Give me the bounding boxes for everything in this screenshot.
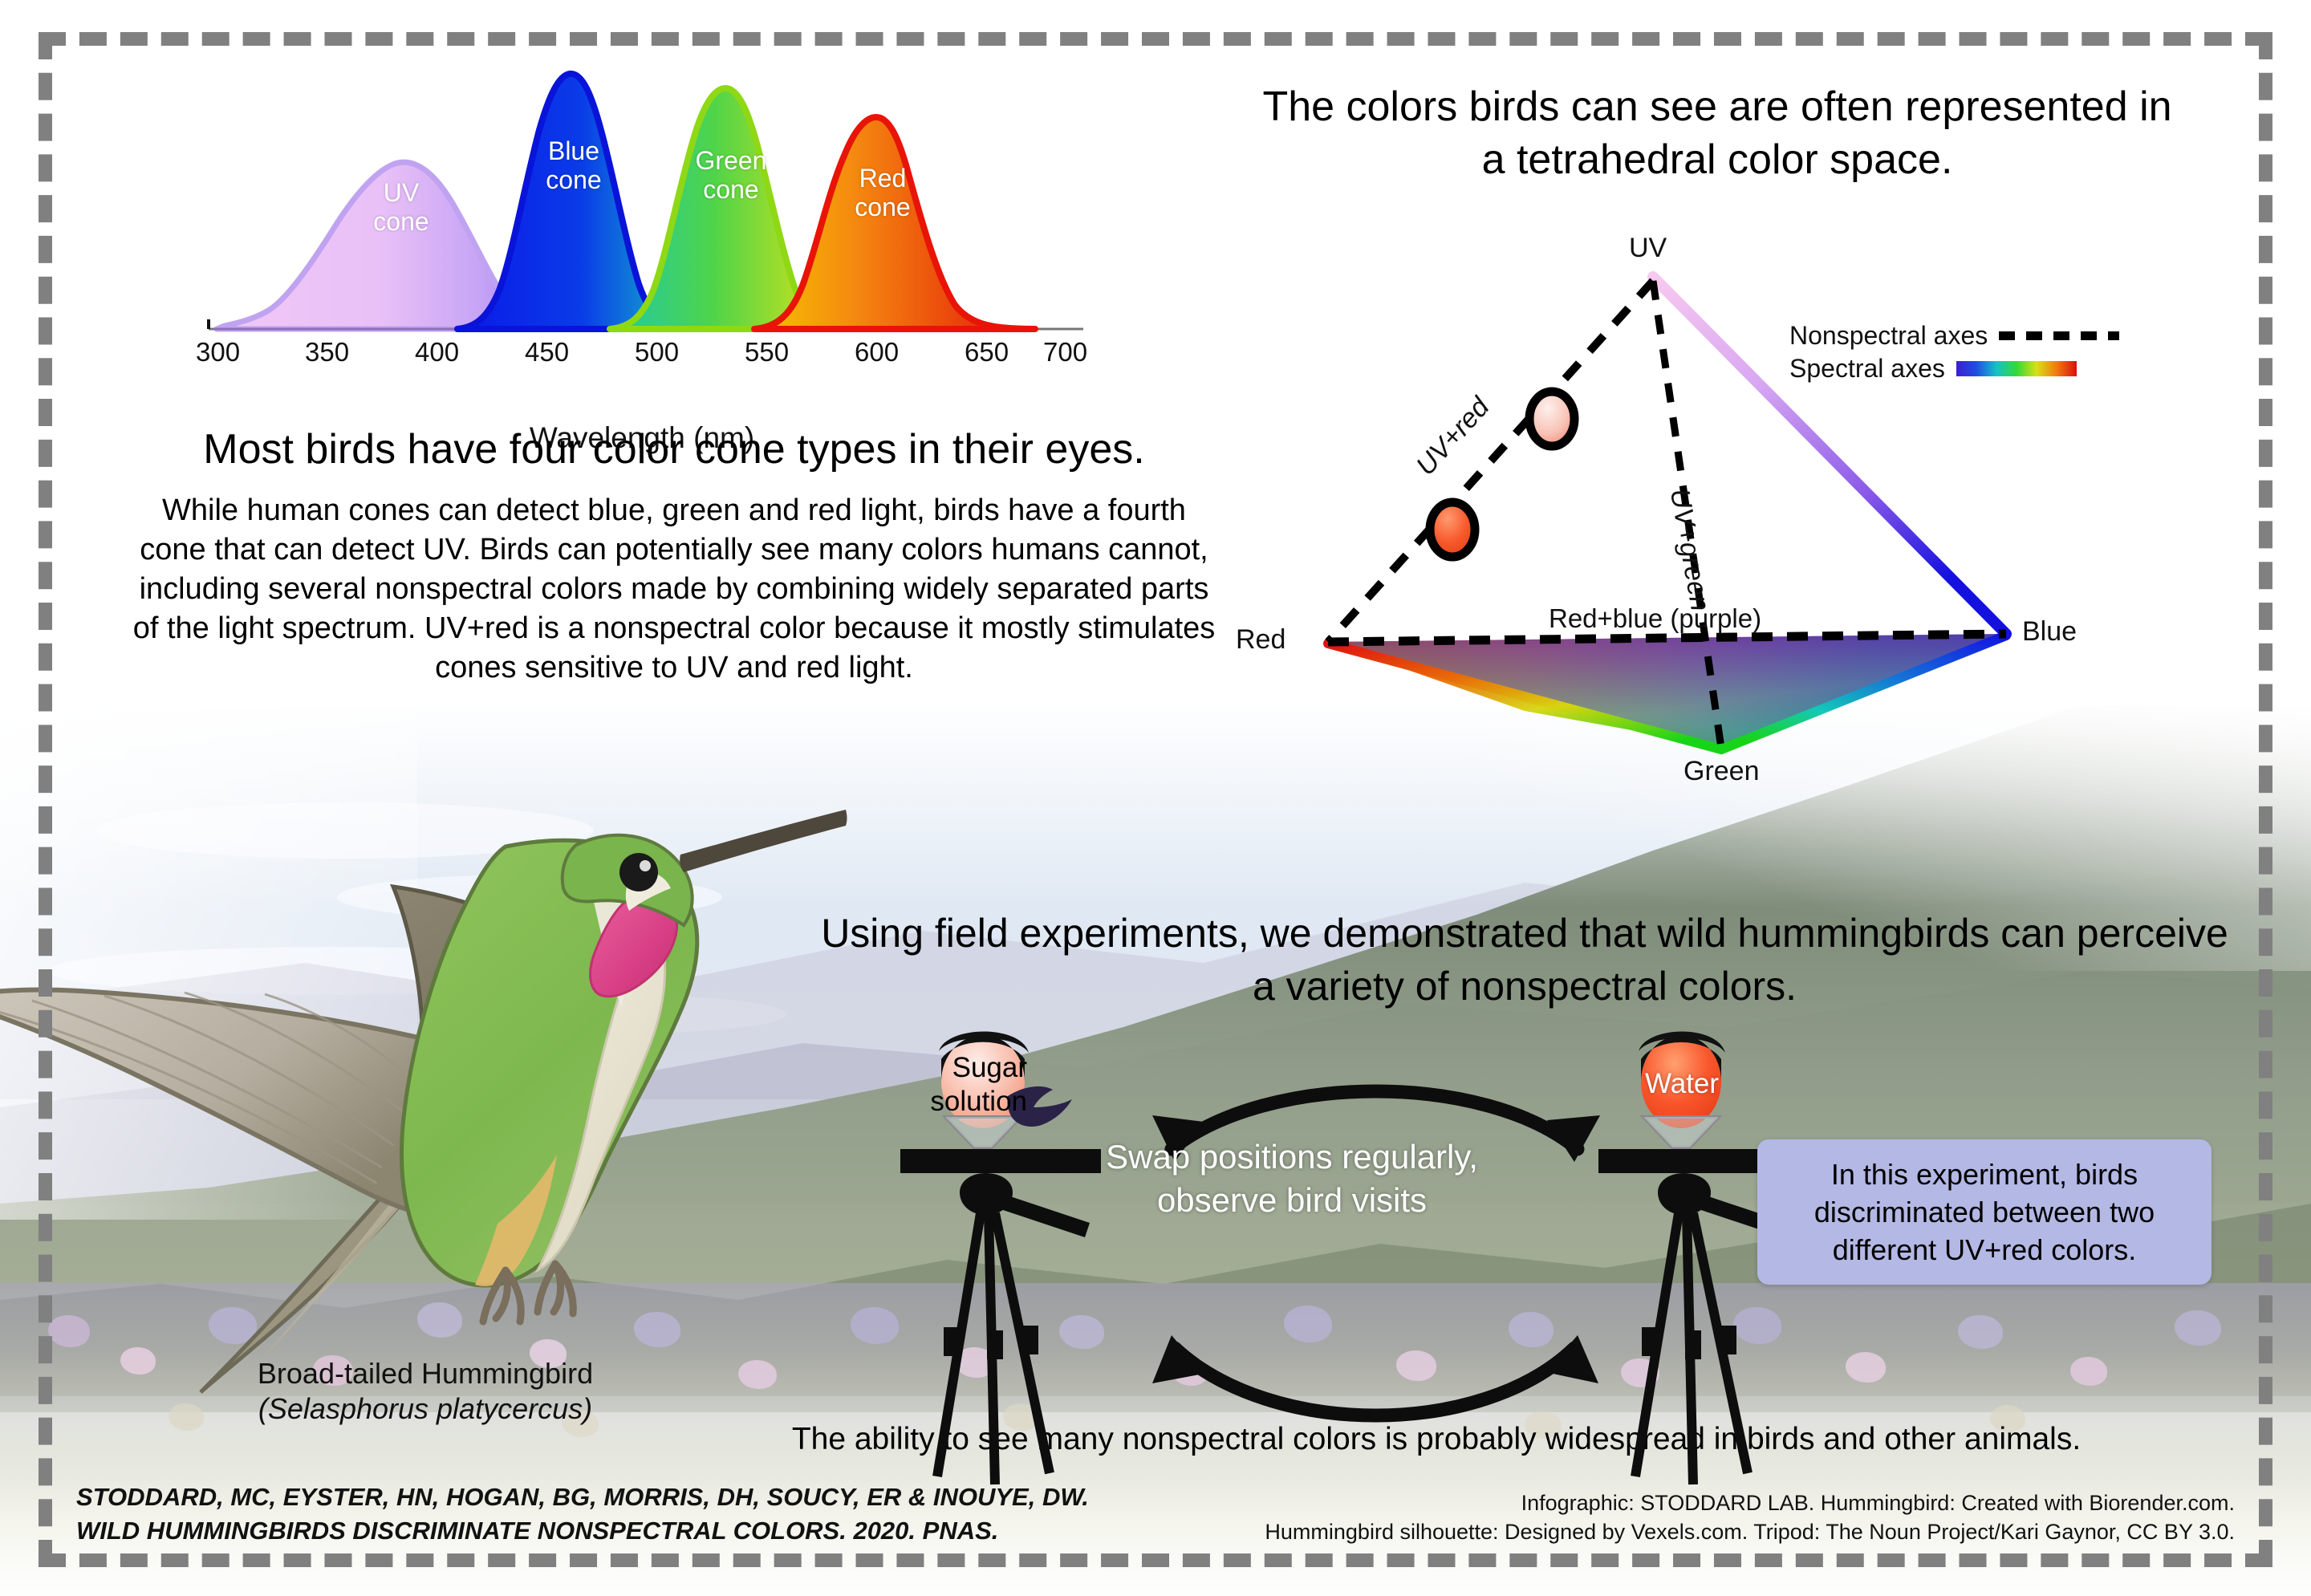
x-tick-300: 300 — [196, 337, 240, 368]
bird-common-name: Broad-tailed Hummingbird — [201, 1356, 650, 1391]
tetrahedron-heading: The colors birds can see are often repre… — [1252, 80, 2183, 186]
x-tick-600: 600 — [855, 337, 899, 368]
legend-row-spectral: Spectral axes — [1789, 354, 2119, 384]
swap-arrow-bottom — [1175, 1348, 1574, 1415]
flower — [2175, 1310, 2221, 1346]
swap-instruction-line2: observe bird visits — [1075, 1179, 1509, 1222]
flower — [1958, 1315, 2003, 1349]
sugar-solution-label: Sugar solution — [875, 1051, 1027, 1119]
beak — [680, 810, 847, 872]
hummingbird-illustration — [0, 750, 851, 1416]
flower — [2070, 1357, 2107, 1386]
cone-sensitivity-chart: UV cone Blue cone Green cone Red cone 30… — [193, 56, 1091, 393]
field-experiment-heading: Using field experiments, we demonstrated… — [818, 907, 2231, 1013]
x-tick-650: 650 — [965, 337, 1009, 368]
eye-highlight — [640, 860, 651, 871]
x-tick-500: 500 — [635, 337, 679, 368]
credits-line1: Infographic: STODDARD LAB. Hummingbird: … — [1208, 1488, 2235, 1517]
experiment-callout-box: In this experiment, birds discriminated … — [1757, 1139, 2211, 1285]
uv-red-nonspectral-axis — [1328, 281, 1653, 642]
citation-line1: STODDARD, MC, EYSTER, HN, HOGAN, BG, MOR… — [76, 1480, 1200, 1514]
tetrahedron-legend: Nonspectral axes Spectral axes — [1789, 321, 2119, 387]
vertex-label-red: Red — [1236, 624, 1285, 656]
uv-red-saturated-stimulus-icon — [1430, 502, 1475, 557]
uv-red-pale-stimulus-icon — [1529, 392, 1574, 446]
x-tick-550: 550 — [745, 337, 789, 368]
swap-instruction-text: Swap positions regularly, observe bird v… — [1075, 1135, 1509, 1222]
legend-label-nonspectral: Nonspectral axes — [1789, 321, 1988, 351]
cones-heading: Most birds have four color cone types in… — [104, 425, 1244, 473]
sugar-solution-label-line1: Sugar — [875, 1051, 1027, 1085]
cone-curves-svg — [193, 56, 1091, 345]
eye — [619, 853, 658, 891]
x-tick-350: 350 — [305, 337, 349, 368]
vertex-label-uv: UV — [1629, 233, 1667, 264]
hummingbird-svg — [0, 750, 851, 1416]
foot-right — [538, 1264, 573, 1314]
citation-block: STODDARD, MC, EYSTER, HN, HOGAN, BG, MOR… — [76, 1480, 1200, 1548]
credits-block: Infographic: STODDARD LAB. Hummingbird: … — [1208, 1488, 2235, 1546]
x-tick-400: 400 — [415, 337, 459, 368]
infographic-poster: UV cone Blue cone Green cone Red cone 30… — [0, 0, 2311, 1596]
water-label: Water — [1645, 1067, 1719, 1101]
x-tick-700: 700 — [1043, 337, 1087, 368]
axis-label-red-blue: Red+blue (purple) — [1549, 603, 1761, 634]
vertex-label-blue: Blue — [2022, 616, 2077, 648]
legend-row-nonspectral: Nonspectral axes — [1789, 321, 2119, 351]
spectral-gradient-swatch — [1956, 361, 2077, 376]
red-cone-curve — [754, 117, 1035, 329]
cones-body-text: While human cones can detect blue, green… — [128, 491, 1220, 688]
near-wing — [0, 990, 437, 1216]
bird-scientific-name: (Selasphorus platycercus) — [258, 1392, 592, 1425]
bird-caption: Broad-tailed Hummingbird (Selasphorus pl… — [201, 1356, 650, 1427]
sugar-solution-label-line2: solution — [875, 1085, 1027, 1119]
swap-instruction-line1: Swap positions regularly, — [1075, 1135, 1509, 1179]
credits-line2: Hummingbird silhouette: Designed by Vexe… — [1208, 1517, 2235, 1546]
x-tick-450: 450 — [525, 337, 569, 368]
dashed-line-swatch — [1999, 331, 2119, 340]
vertex-label-green: Green — [1683, 756, 1760, 787]
legend-label-spectral: Spectral axes — [1789, 354, 1945, 384]
citation-line2: WILD HUMMINGBIRDS DISCRIMINATE NONSPECTR… — [76, 1514, 1200, 1548]
